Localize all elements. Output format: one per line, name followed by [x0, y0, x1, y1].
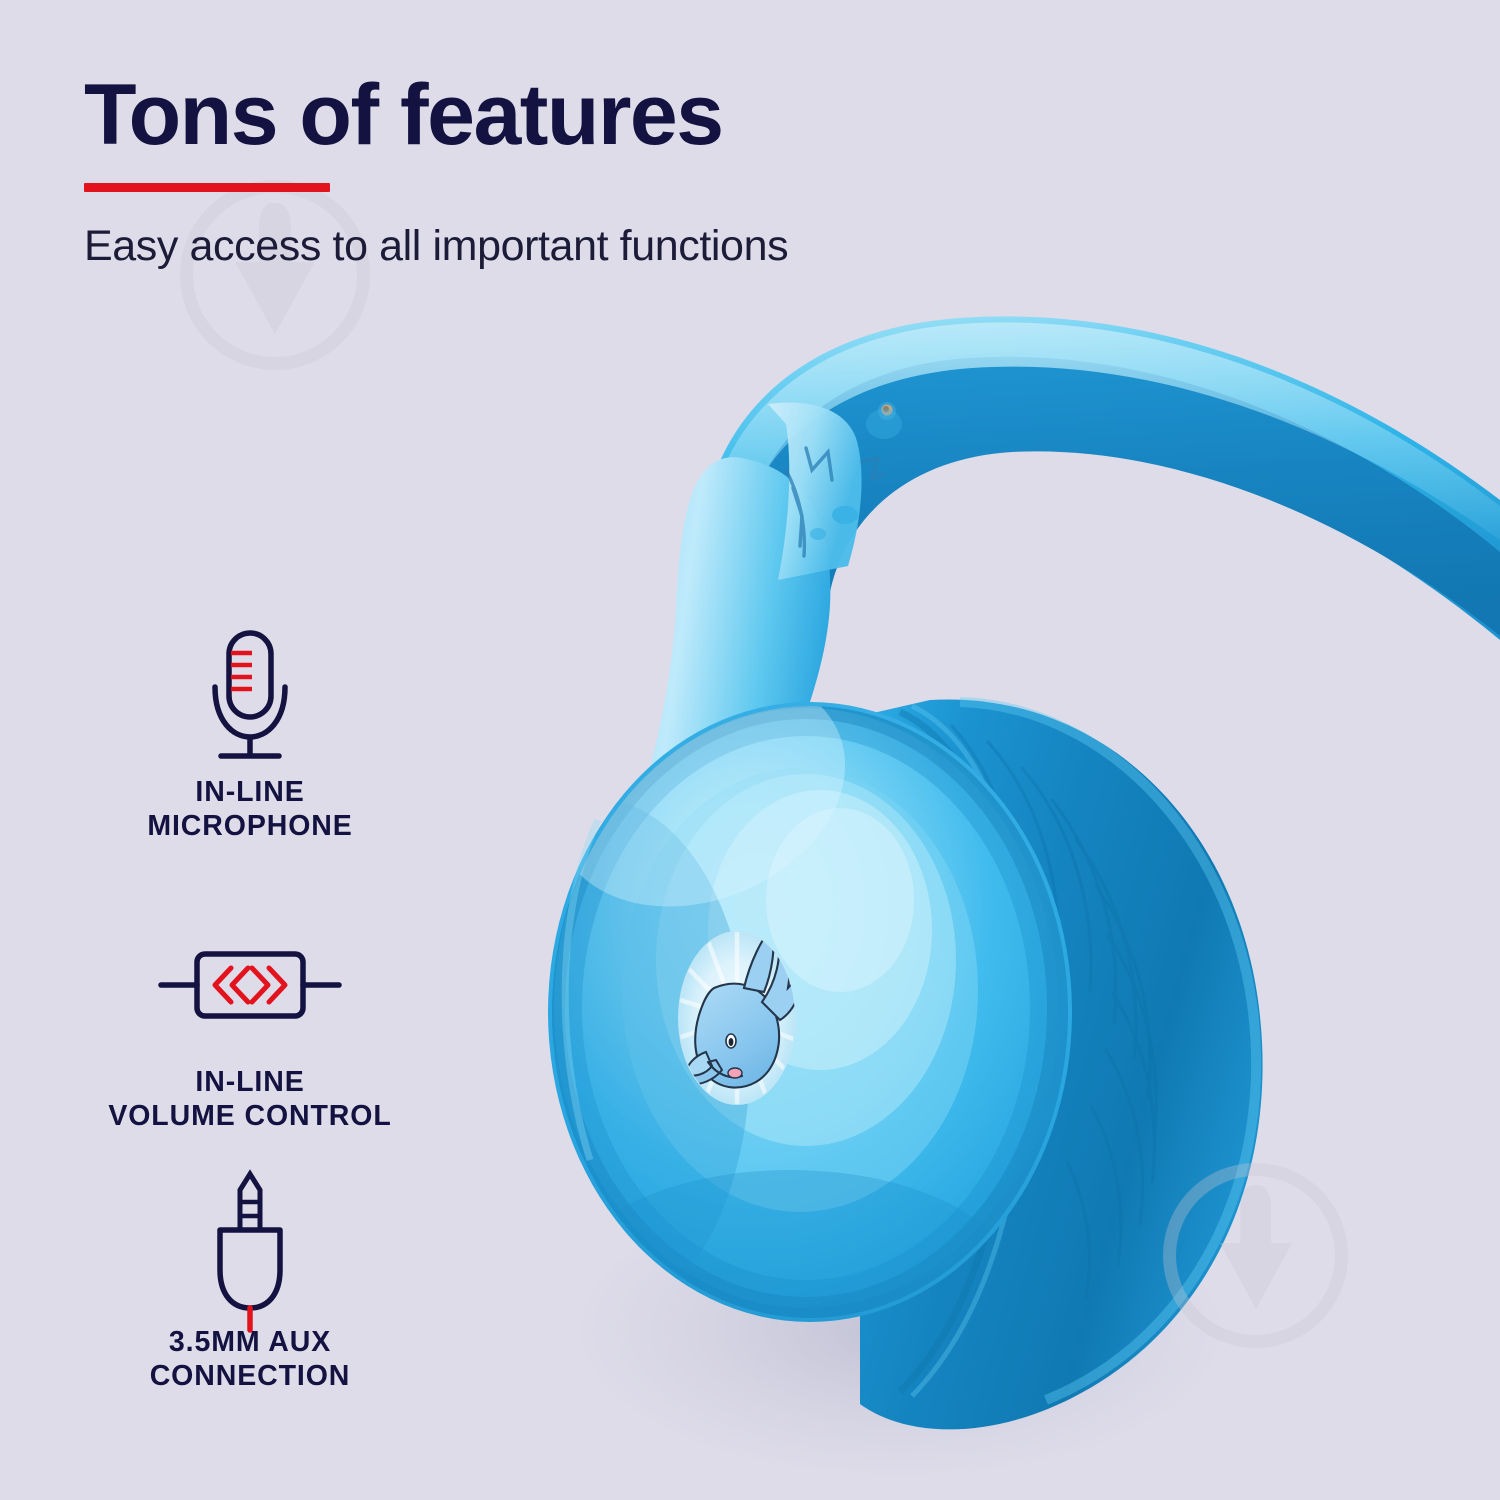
- microphone-icon-wrap: [60, 620, 440, 770]
- volume-control-icon-wrap: [60, 910, 440, 1060]
- site-watermark-bottom: [1163, 1163, 1348, 1348]
- title-accent-rule: [84, 183, 330, 192]
- headband-wave-decal: [786, 448, 884, 556]
- product-feature-banner: Tons of features Easy access to all impo…: [0, 0, 1500, 1500]
- dolphin-logo: [655, 918, 820, 1120]
- page-title: Tons of features: [84, 72, 723, 158]
- feature-label-volume-control: IN-LINE VOLUME CONTROL: [60, 1066, 440, 1133]
- feature-label-microphone: IN-LINE MICROPHONE: [60, 776, 440, 843]
- watermark-ring: [1163, 1163, 1348, 1348]
- ear-cup: [450, 632, 1072, 1410]
- feature-item-aux: 3.5MM AUX CONNECTION: [60, 1170, 440, 1393]
- aux-plug-icon-wrap: [60, 1170, 440, 1320]
- microphone-icon: [190, 625, 310, 765]
- watermark-stem: [1240, 1185, 1271, 1259]
- watermark-ring: [180, 180, 370, 370]
- watermark-triangle: [1220, 1243, 1292, 1309]
- ear-pad: [860, 699, 1263, 1429]
- feature-item-volume-control: IN-LINE VOLUME CONTROL: [60, 910, 440, 1133]
- aux-plug-icon: [190, 1158, 310, 1333]
- site-watermark-top: [180, 180, 370, 370]
- headband-dot: [832, 506, 858, 524]
- watermark-triangle: [235, 262, 315, 334]
- feature-item-microphone: IN-LINE MICROPHONE: [60, 620, 440, 843]
- volume-control-icon: [155, 940, 345, 1030]
- page-subtitle: Easy access to all important functions: [84, 222, 788, 271]
- feature-label-aux: 3.5MM AUX CONNECTION: [60, 1326, 440, 1393]
